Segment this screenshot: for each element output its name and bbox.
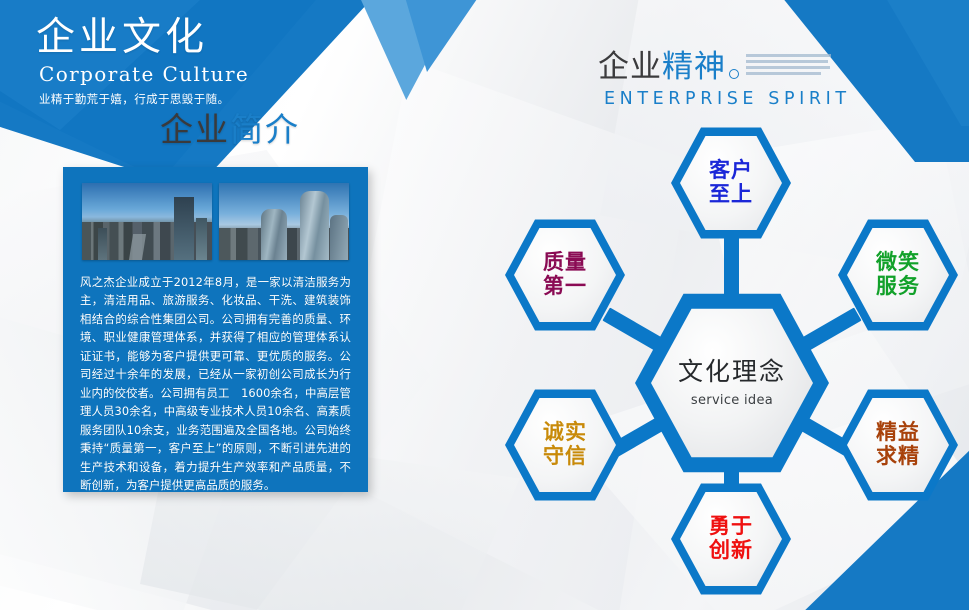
hex-label-line2: 第一 (543, 275, 587, 299)
photo2-tower-2 (300, 191, 330, 260)
hex-node-innovation[interactable]: 勇于 创新 (671, 480, 791, 598)
slide-canvas: 企业文化 Corporate Culture 业精于勤荒于嬉，行成于思毁于随。 … (0, 0, 969, 610)
hex-label-excellence: 精益 求精 (876, 421, 920, 468)
enterprise-spirit-title-dark: 企业 (598, 49, 662, 85)
hex-node-integrity[interactable]: 诚实 守信 (505, 386, 625, 504)
registered-mark-icon (729, 69, 739, 79)
hex-label-line1: 精益 (876, 421, 920, 445)
enterprise-spirit-title-row: 企业精神 (598, 52, 851, 83)
hex-label-line1: 客户 (709, 159, 753, 183)
hex-label-integrity: 诚实 守信 (543, 421, 587, 468)
hex-label-smile-service: 微笑 服务 (876, 251, 920, 298)
company-intro-body: 风之杰企业成立于2012年8月，是一家以清洁服务为主，清洁用品、旅游服务、化妆品… (63, 260, 368, 495)
intro-photo-row (63, 167, 368, 260)
hex-label-quality-first: 质量 第一 (543, 251, 587, 298)
hex-node-center[interactable]: 文化理念 service idea (635, 288, 829, 478)
company-intro-card: 风之杰企业成立于2012年8月，是一家以清洁服务为主，清洁用品、旅游服务、化妆品… (63, 167, 368, 492)
hex-center-title-en: service idea (678, 394, 786, 409)
photo1-road (129, 234, 146, 260)
hex-label-line1: 诚实 (543, 421, 587, 445)
hex-label-customer-first: 客户 至上 (709, 159, 753, 206)
hex-label-innovation: 勇于 创新 (709, 515, 753, 562)
culture-hexagon-diagram: 文化理念 service idea 客户 至上 微笑 服务 精益 (495, 118, 969, 610)
decor-line-2 (746, 60, 828, 63)
corporate-culture-title-cn: 企业文化 (36, 16, 306, 61)
corporate-culture-header: 企业文化 Corporate Culture 业精于勤荒于嬉，行成于思毁于随。 (36, 16, 306, 107)
hex-label-line1: 质量 (543, 251, 587, 275)
enterprise-spirit-title-cn: 企业精神 (598, 52, 726, 83)
enterprise-spirit-title-en: ENTERPRISE SPIRIT (604, 89, 851, 109)
hex-label-line2: 创新 (709, 539, 753, 563)
enterprise-spirit-title-blue: 精神 (662, 49, 726, 85)
hex-node-excellence[interactable]: 精益 求精 (838, 386, 958, 504)
decor-line-3 (746, 66, 830, 69)
hex-node-smile-service[interactable]: 微笑 服务 (838, 216, 958, 334)
corporate-culture-motto: 业精于勤荒于嬉，行成于思毁于随。 (36, 91, 306, 107)
hex-label-line2: 至上 (709, 183, 753, 207)
hex-label-line2: 服务 (876, 275, 920, 299)
city-skyline-photo-2 (219, 183, 349, 260)
hex-label-line2: 守信 (543, 445, 587, 469)
intro-title-dark: 企业 (160, 110, 230, 149)
intro-section-title: 企业简介 (160, 113, 300, 146)
corporate-culture-title-en: Corporate Culture (36, 62, 306, 86)
hex-center-label: 文化理念 service idea (678, 358, 786, 409)
city-skyline-photo-1 (82, 183, 212, 260)
photo2-tower-1 (261, 209, 287, 260)
hex-label-line1: 勇于 (709, 515, 753, 539)
hex-center-title-cn: 文化理念 (678, 358, 786, 386)
hex-node-customer-first[interactable]: 客户 至上 (671, 124, 791, 242)
decor-line-4 (746, 72, 821, 75)
photo1-tower-3 (98, 228, 107, 260)
enterprise-spirit-header: 企业精神 ENTERPRISE SPIRIT (598, 52, 851, 109)
photo2-tower-3 (330, 215, 348, 260)
decorative-text-lines (746, 54, 831, 78)
photo1-tower-2 (196, 218, 206, 260)
hex-node-quality-first[interactable]: 质量 第一 (505, 216, 625, 334)
intro-title-blue: 简介 (230, 110, 300, 149)
hex-label-line1: 微笑 (876, 251, 920, 275)
decor-line-1 (746, 54, 831, 57)
hex-label-line2: 求精 (876, 445, 920, 469)
